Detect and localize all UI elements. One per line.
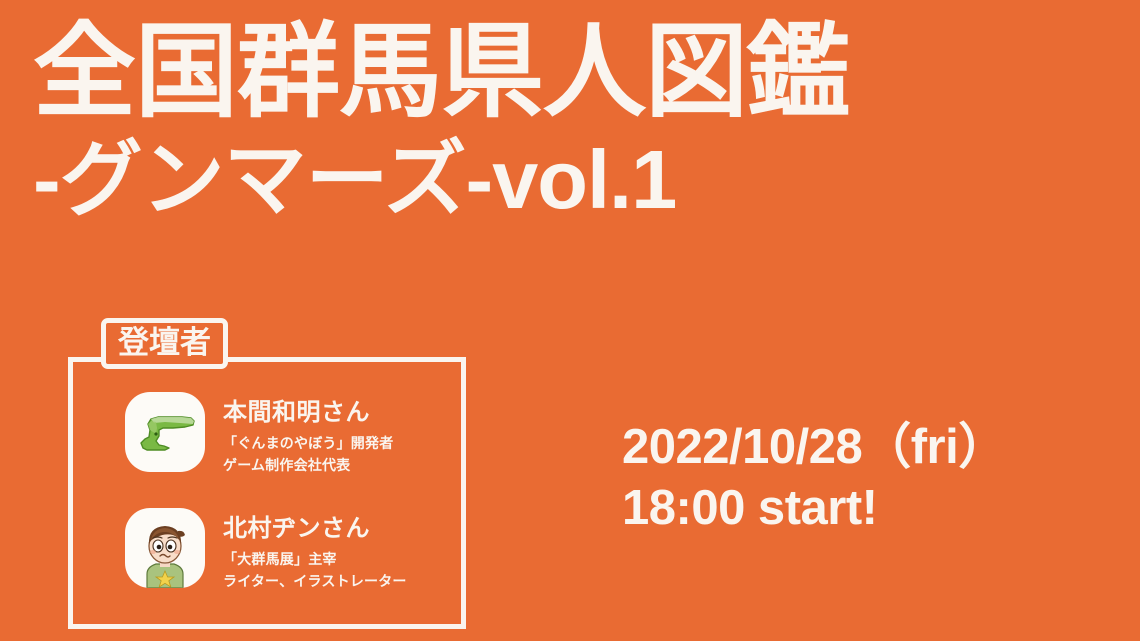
title-block: 全国群馬県人図鑑 -グンマーズ-vol.1	[33, 14, 1053, 225]
speaker-role-line: ゲーム制作会社代表	[223, 455, 393, 476]
page-subtitle: -グンマーズ-vol.1	[33, 135, 1053, 225]
avatar	[125, 392, 205, 472]
speaker-role-line: 「大群馬展」主宰	[223, 549, 407, 570]
speaker-name: 北村ヂンさん	[223, 516, 407, 542]
cartoon-person-portrait-icon	[125, 508, 205, 588]
list-item: 北村ヂンさん 「大群馬展」主宰 ライター、イラストレーター	[125, 508, 407, 592]
speaker-info: 北村ヂンさん 「大群馬展」主宰 ライター、イラストレーター	[223, 508, 407, 592]
speaker-info: 本間和明さん 「ぐんまのやぼう」開発者 ゲーム制作会社代表	[223, 392, 393, 476]
speakers-label-text: 登壇者	[118, 326, 211, 359]
event-date: 2022/10/28（fri）	[622, 417, 1092, 478]
page-title: 全国群馬県人図鑑	[33, 14, 1053, 129]
list-item: 本間和明さん 「ぐんまのやぼう」開発者 ゲーム制作会社代表	[125, 392, 393, 476]
speaker-name: 本間和明さん	[223, 400, 393, 426]
avatar	[125, 508, 205, 588]
event-datetime: 2022/10/28（fri） 18:00 start!	[622, 417, 1092, 540]
speaker-role-line: 「ぐんまのやぼう」開発者	[223, 433, 393, 454]
event-poster: 全国群馬県人図鑑 -グンマーズ-vol.1 登壇者 本間和明さん	[0, 0, 1140, 641]
event-start-time: 18:00 start!	[622, 478, 1092, 539]
speaker-role-line: ライター、イラストレーター	[223, 571, 407, 592]
speakers-frame: 登壇者 本間和明さん 「ぐんまのやぼう」開発者 ゲーム制作会社代表	[68, 357, 466, 629]
gunma-prefecture-shape-icon	[125, 392, 205, 472]
speaker-list: 本間和明さん 「ぐんまのやぼう」開発者 ゲーム制作会社代表	[73, 362, 461, 624]
